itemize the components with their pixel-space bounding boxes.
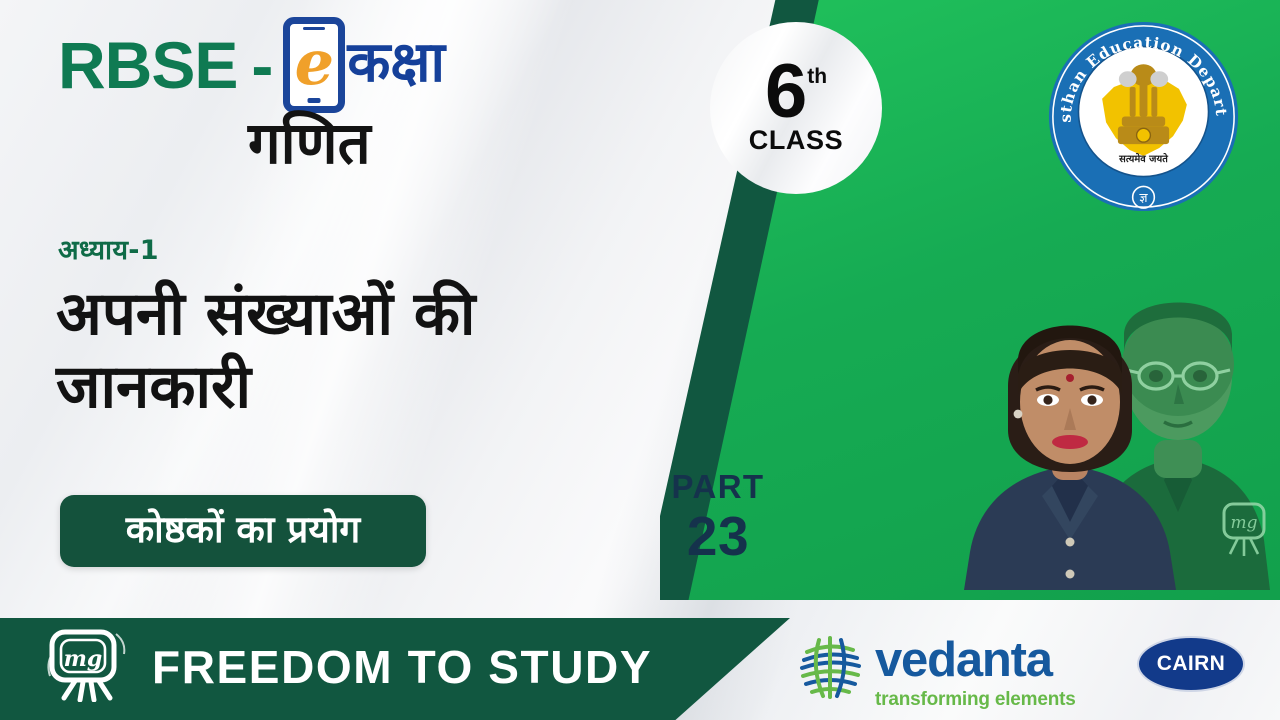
brand-row: RBSE - e कक्षा xyxy=(58,22,445,108)
vedanta-name: vedanta xyxy=(875,636,1076,685)
class-number-row: 6 th xyxy=(765,60,827,124)
chapter-label: अध्याय-1 xyxy=(58,230,159,267)
class-word-label: CLASS xyxy=(749,125,844,156)
topic-badge: कोष्ठकों का प्रयोग xyxy=(60,495,426,567)
class-ordinal-suffix: th xyxy=(807,68,827,86)
brand-board-name: RBSE xyxy=(58,32,237,98)
mg-logo-text: mg xyxy=(64,646,103,672)
part-block: PART 23 xyxy=(632,470,804,566)
class-badge: 6 th CLASS xyxy=(710,22,882,194)
brand-kaksha-label: कक्षा xyxy=(347,35,445,91)
mg-brand-icon: mg xyxy=(42,626,138,702)
cairn-name: CAIRN xyxy=(1157,652,1226,676)
svg-text:mg: mg xyxy=(1230,513,1257,533)
chapter-title: अपनी संख्याओं की जानकारी xyxy=(56,278,696,424)
class-number: 6 xyxy=(765,60,805,124)
e-letter-glyph: e xyxy=(295,32,334,94)
smartphone-icon: e xyxy=(283,17,345,113)
instructor-photos: mg xyxy=(930,236,1280,590)
vedanta-wordmark: vedanta transforming elements xyxy=(875,632,1076,709)
footer-tagline: FREEDOM TO STUDY xyxy=(152,644,652,690)
brand-dash: - xyxy=(251,32,273,98)
chapter-title-line-2: जानकारी xyxy=(56,351,696,424)
cairn-logo: CAIRN xyxy=(1137,636,1245,692)
rajasthan-education-department-logo: सत्यमेव जयते Rajasthan Education Departm… xyxy=(1045,18,1242,215)
vedanta-globe-icon xyxy=(797,634,863,700)
teacher-female-foreground-photo xyxy=(956,290,1184,590)
vedanta-tagline: transforming elements xyxy=(875,690,1076,709)
part-number: 23 xyxy=(632,508,804,566)
subject-title: गणित xyxy=(248,112,371,176)
dept-logo-svg: सत्यमेव जयते Rajasthan Education Departm… xyxy=(1045,18,1242,215)
dept-logo-small-glyph: ज्ञ xyxy=(1139,191,1148,206)
vedanta-logo: vedanta transforming elements xyxy=(797,632,1076,704)
part-label: PART xyxy=(632,470,804,503)
thumbnail-canvas: 6 th CLASS xyxy=(0,0,1280,720)
dept-logo-motto: सत्यमेव जयते xyxy=(1118,152,1168,165)
chapter-title-line-1: अपनी संख्याओं की xyxy=(56,278,696,351)
